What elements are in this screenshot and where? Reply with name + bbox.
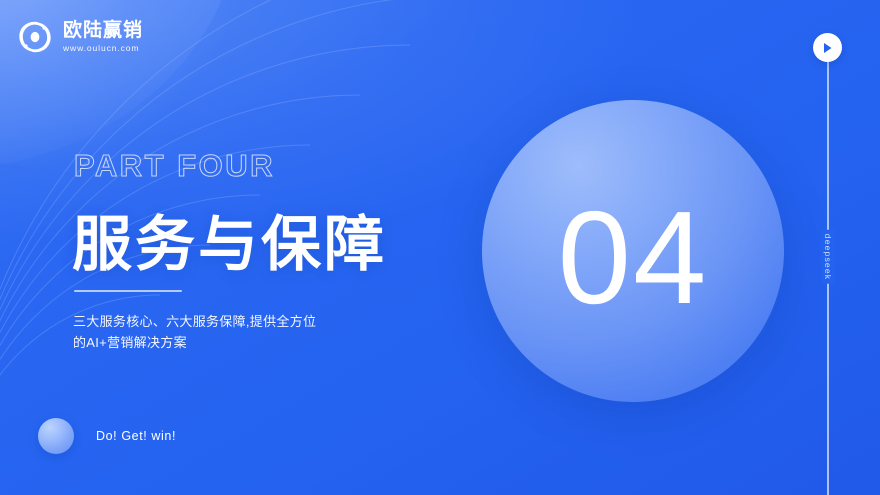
section-subtitle: 三大服务核心、六大服务保障,提供全方位 的AI+营销解决方案 [73, 311, 363, 354]
right-rail-label-text: deepseek [821, 230, 835, 284]
page-title: 服务与保障 [72, 196, 387, 283]
section-number-circle: 04 [482, 100, 784, 402]
right-rail-label: deepseek [812, 227, 844, 287]
subtitle-line-1: 三大服务核心、六大服务保障,提供全方位 [73, 311, 363, 332]
play-triangle-icon [822, 42, 833, 54]
brand-logo[interactable]: 欧陆赢销 www.oulucn.com [16, 18, 143, 56]
presentation-slide: 04 欧陆赢销 www.oulucn.com PART FOUR 服务与保障 三… [0, 0, 880, 495]
logo-website-url: www.oulucn.com [63, 44, 143, 53]
oulu-spiral-logo-icon [16, 18, 54, 56]
tagline-group: Do! Get! win! [38, 418, 176, 454]
logo-text-group: 欧陆赢销 www.oulucn.com [63, 21, 143, 53]
section-number-value: 04 [558, 192, 709, 324]
title-divider [74, 290, 182, 292]
section-eyebrow-label: PART FOUR [74, 148, 275, 184]
logo-company-name: 欧陆赢销 [63, 21, 143, 40]
play-button[interactable] [813, 33, 842, 62]
subtitle-line-2: 的AI+营销解决方案 [73, 332, 363, 353]
tagline-sphere-decoration [38, 418, 74, 454]
tagline-text: Do! Get! win! [96, 429, 176, 443]
